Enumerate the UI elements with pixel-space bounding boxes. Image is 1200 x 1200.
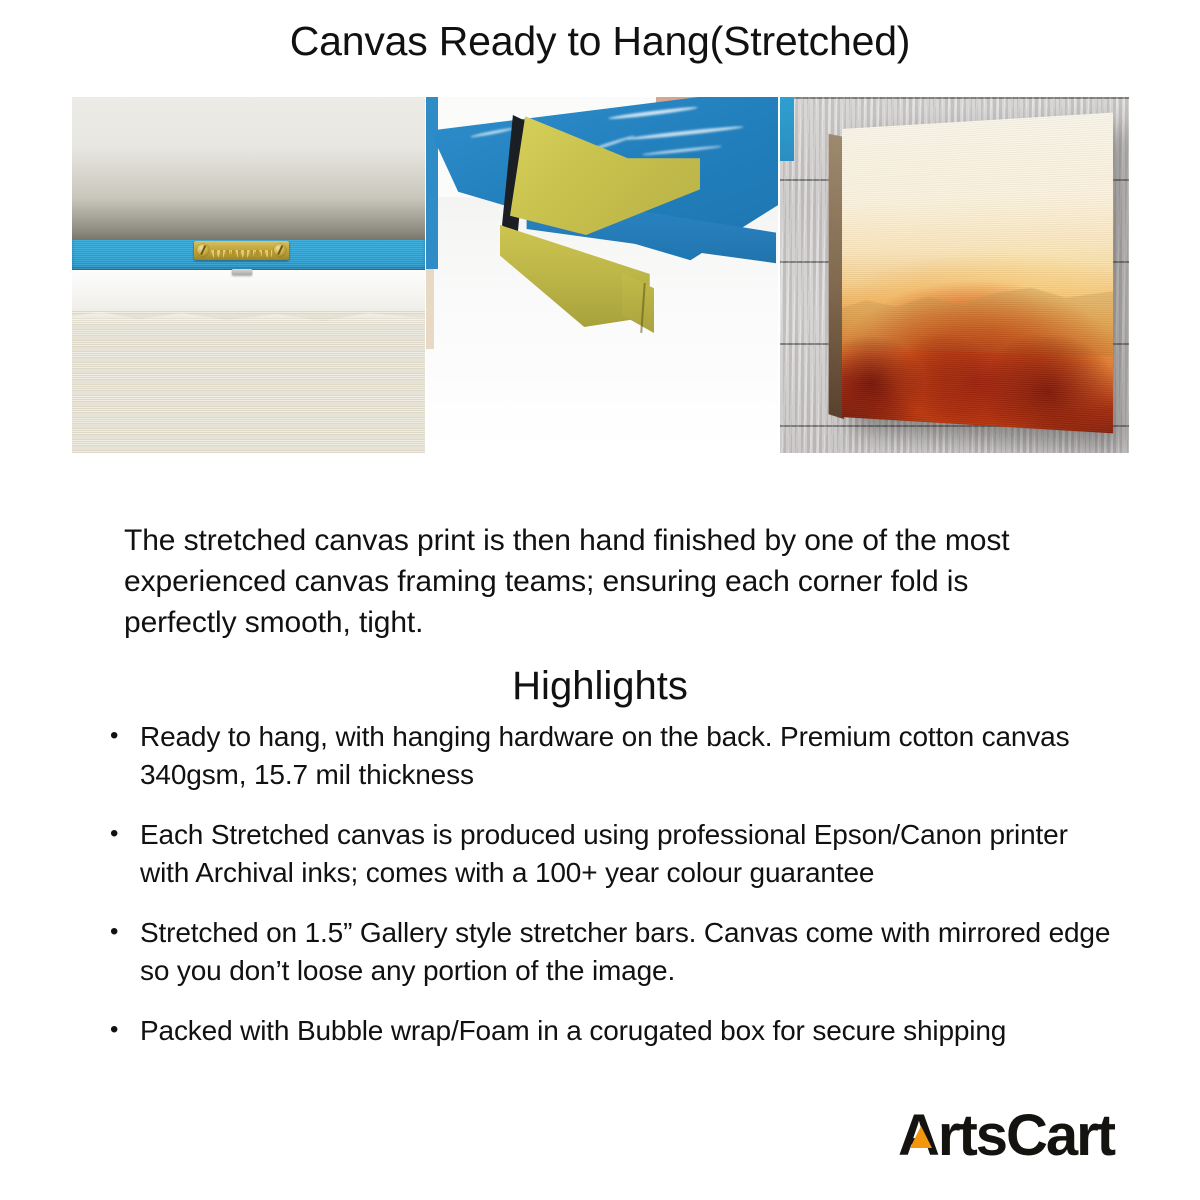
sawtooth-hanger-icon: [194, 241, 289, 260]
highlights-list: Ready to hang, with hanging hardware on …: [104, 718, 1114, 1072]
left-edge-blue-sliver: [426, 97, 438, 269]
cloud-wisp: [470, 127, 516, 139]
intro-paragraph: The stretched canvas print is then hand …: [124, 520, 1084, 643]
sunset-landscape-artwork: [842, 113, 1113, 434]
list-item: Stretched on 1.5” Gallery style stretche…: [104, 914, 1114, 990]
list-item: Ready to hang, with hanging hardware on …: [104, 718, 1114, 794]
left-edge-tan-sliver: [426, 269, 434, 349]
gallery-image-canvas-back-hanging-hardware: [72, 97, 425, 453]
canvas-weave-texture: [842, 113, 1113, 434]
list-item: Each Stretched canvas is produced using …: [104, 816, 1114, 892]
gallery-image-canvas-hanging-on-wood-wall: [780, 97, 1129, 453]
page-title: Canvas Ready to Hang(Stretched): [0, 16, 1200, 66]
cloud-wisp: [642, 145, 722, 156]
screw-left-icon: [197, 244, 209, 256]
sawtooth-teeth: [211, 250, 272, 258]
cloud-wisp: [626, 125, 744, 141]
screw-right-icon: [274, 244, 286, 256]
canvas-back-surface: [72, 97, 425, 260]
white-wall-strip: [72, 270, 425, 315]
highlights-heading: Highlights: [0, 661, 1200, 711]
hanging-canvas-print: [842, 113, 1113, 434]
brand-logo-text: ArtsCart: [898, 1104, 1114, 1168]
wall-hook-clip: [232, 269, 252, 275]
product-image-gallery: [72, 97, 1129, 453]
cloud-wisp: [608, 106, 698, 121]
canvas-fabric-surface: [72, 310, 425, 453]
left-edge-blue-sliver: [780, 97, 794, 161]
gallery-image-canvas-corner-fold: [426, 97, 778, 453]
brand-logo: ArtsCart: [898, 1104, 1138, 1168]
list-item: Packed with Bubble wrap/Foam in a coruga…: [104, 1012, 1114, 1050]
